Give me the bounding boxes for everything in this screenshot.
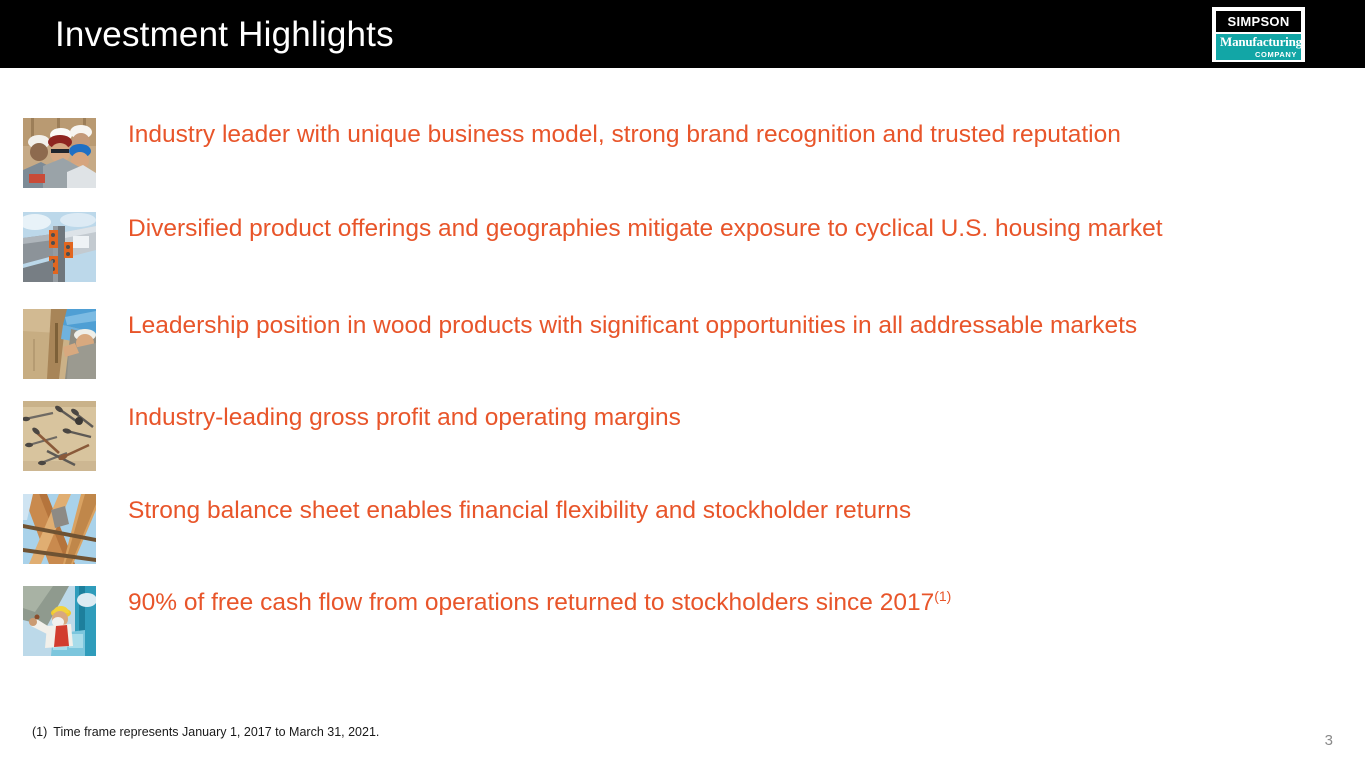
logo-simpson-band: SIMPSON (1216, 11, 1301, 32)
list-item: Industry leader with unique business mod… (23, 118, 1203, 188)
list-item-text: Leadership position in wood products wit… (128, 309, 1137, 343)
slide-header-bar: Investment Highlights SIMPSON Manufactur… (0, 0, 1365, 68)
page-number: 3 (1325, 732, 1333, 749)
list-item-text: 90% of free cash flow from operations re… (128, 586, 951, 620)
logo-manufacturing-band: Manufacturing COMPANY (1216, 34, 1301, 60)
list-item: Strong balance sheet enables financial f… (23, 494, 1153, 564)
list-item: Industry-leading gross profit and operat… (23, 401, 923, 471)
page-title: Investment Highlights (55, 15, 394, 55)
footnote: (1)Time frame represents January 1, 2017… (32, 725, 379, 739)
wood-trusses-sky-photo (23, 494, 96, 564)
list-item-text-main: 90% of free cash flow from operations re… (128, 589, 934, 616)
list-item-text: Industry leader with unique business mod… (128, 118, 1121, 152)
list-item: Diversified product offerings and geogra… (23, 212, 1253, 282)
footnote-reference: (1) (934, 588, 951, 604)
list-item-text: Strong balance sheet enables financial f… (128, 494, 911, 528)
list-item: 90% of free cash flow from operations re… (23, 586, 1203, 656)
list-item: Leadership position in wood products wit… (23, 309, 1163, 379)
simpson-manufacturing-logo: SIMPSON Manufacturing COMPANY (1212, 7, 1305, 62)
nails-on-wood-photo (23, 401, 96, 471)
worker-in-lift-photo (23, 586, 96, 656)
worker-installing-sheathing-photo (23, 309, 96, 379)
list-item-text: Industry-leading gross profit and operat… (128, 401, 681, 435)
list-item-text: Diversified product offerings and geogra… (128, 212, 1163, 246)
logo-simpson-text: SIMPSON (1227, 14, 1289, 29)
footnote-marker: (1) (32, 725, 47, 739)
construction-workers-hardhats-photo (23, 118, 96, 188)
logo-manufacturing-text: Manufacturing (1220, 34, 1302, 50)
steel-beam-connector-photo (23, 212, 96, 282)
slide-root: Investment Highlights SIMPSON Manufactur… (0, 0, 1365, 768)
footnote-text: Time frame represents January 1, 2017 to… (53, 725, 379, 739)
logo-company-text: COMPANY (1255, 50, 1297, 59)
